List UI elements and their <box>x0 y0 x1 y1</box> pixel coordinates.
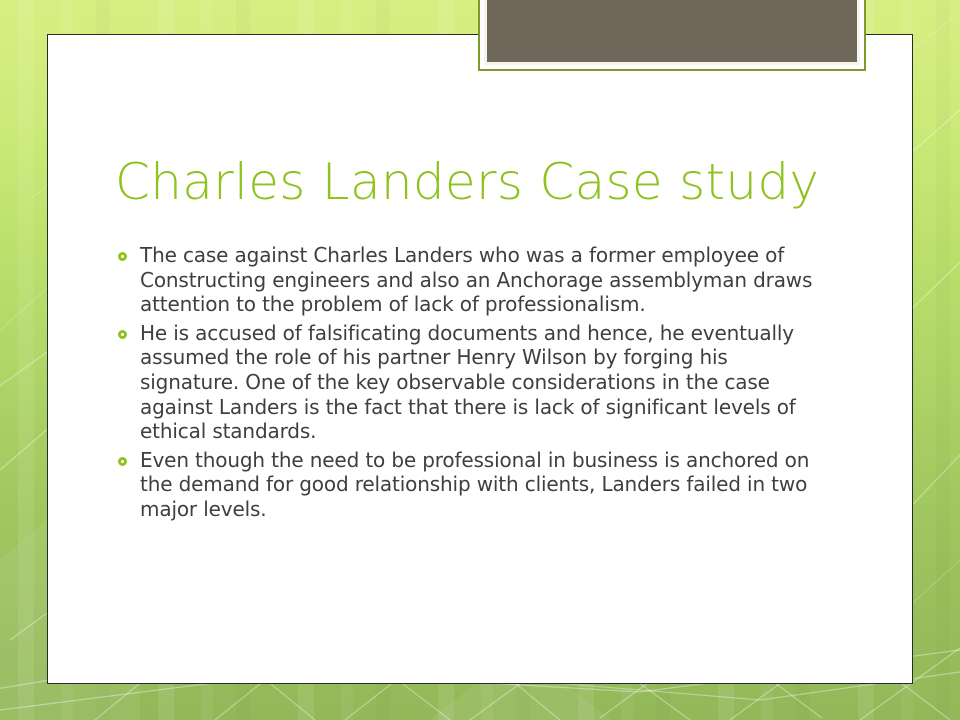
presentation-slide: Charles Landers Case study The case agai… <box>0 0 960 720</box>
list-item-text: The case against Charles Landers who was… <box>140 243 818 317</box>
ring-bullet-icon <box>118 448 140 466</box>
list-item: He is accused of falsificating documents… <box>118 321 818 444</box>
list-item-text: Even though the need to be professional … <box>140 448 818 522</box>
list-item: Even though the need to be professional … <box>118 448 818 522</box>
slide-title: Charles Landers Case study <box>115 152 855 212</box>
photo-placeholder-block <box>478 0 866 71</box>
list-item: The case against Charles Landers who was… <box>118 243 818 317</box>
photo-frame-mat <box>484 0 860 65</box>
ring-bullet-icon <box>118 243 140 261</box>
photo-image-area <box>487 0 857 62</box>
list-item-text: He is accused of falsificating documents… <box>140 321 818 444</box>
ring-bullet-icon <box>118 321 140 339</box>
slide-body-bullet-list: The case against Charles Landers who was… <box>118 243 818 526</box>
